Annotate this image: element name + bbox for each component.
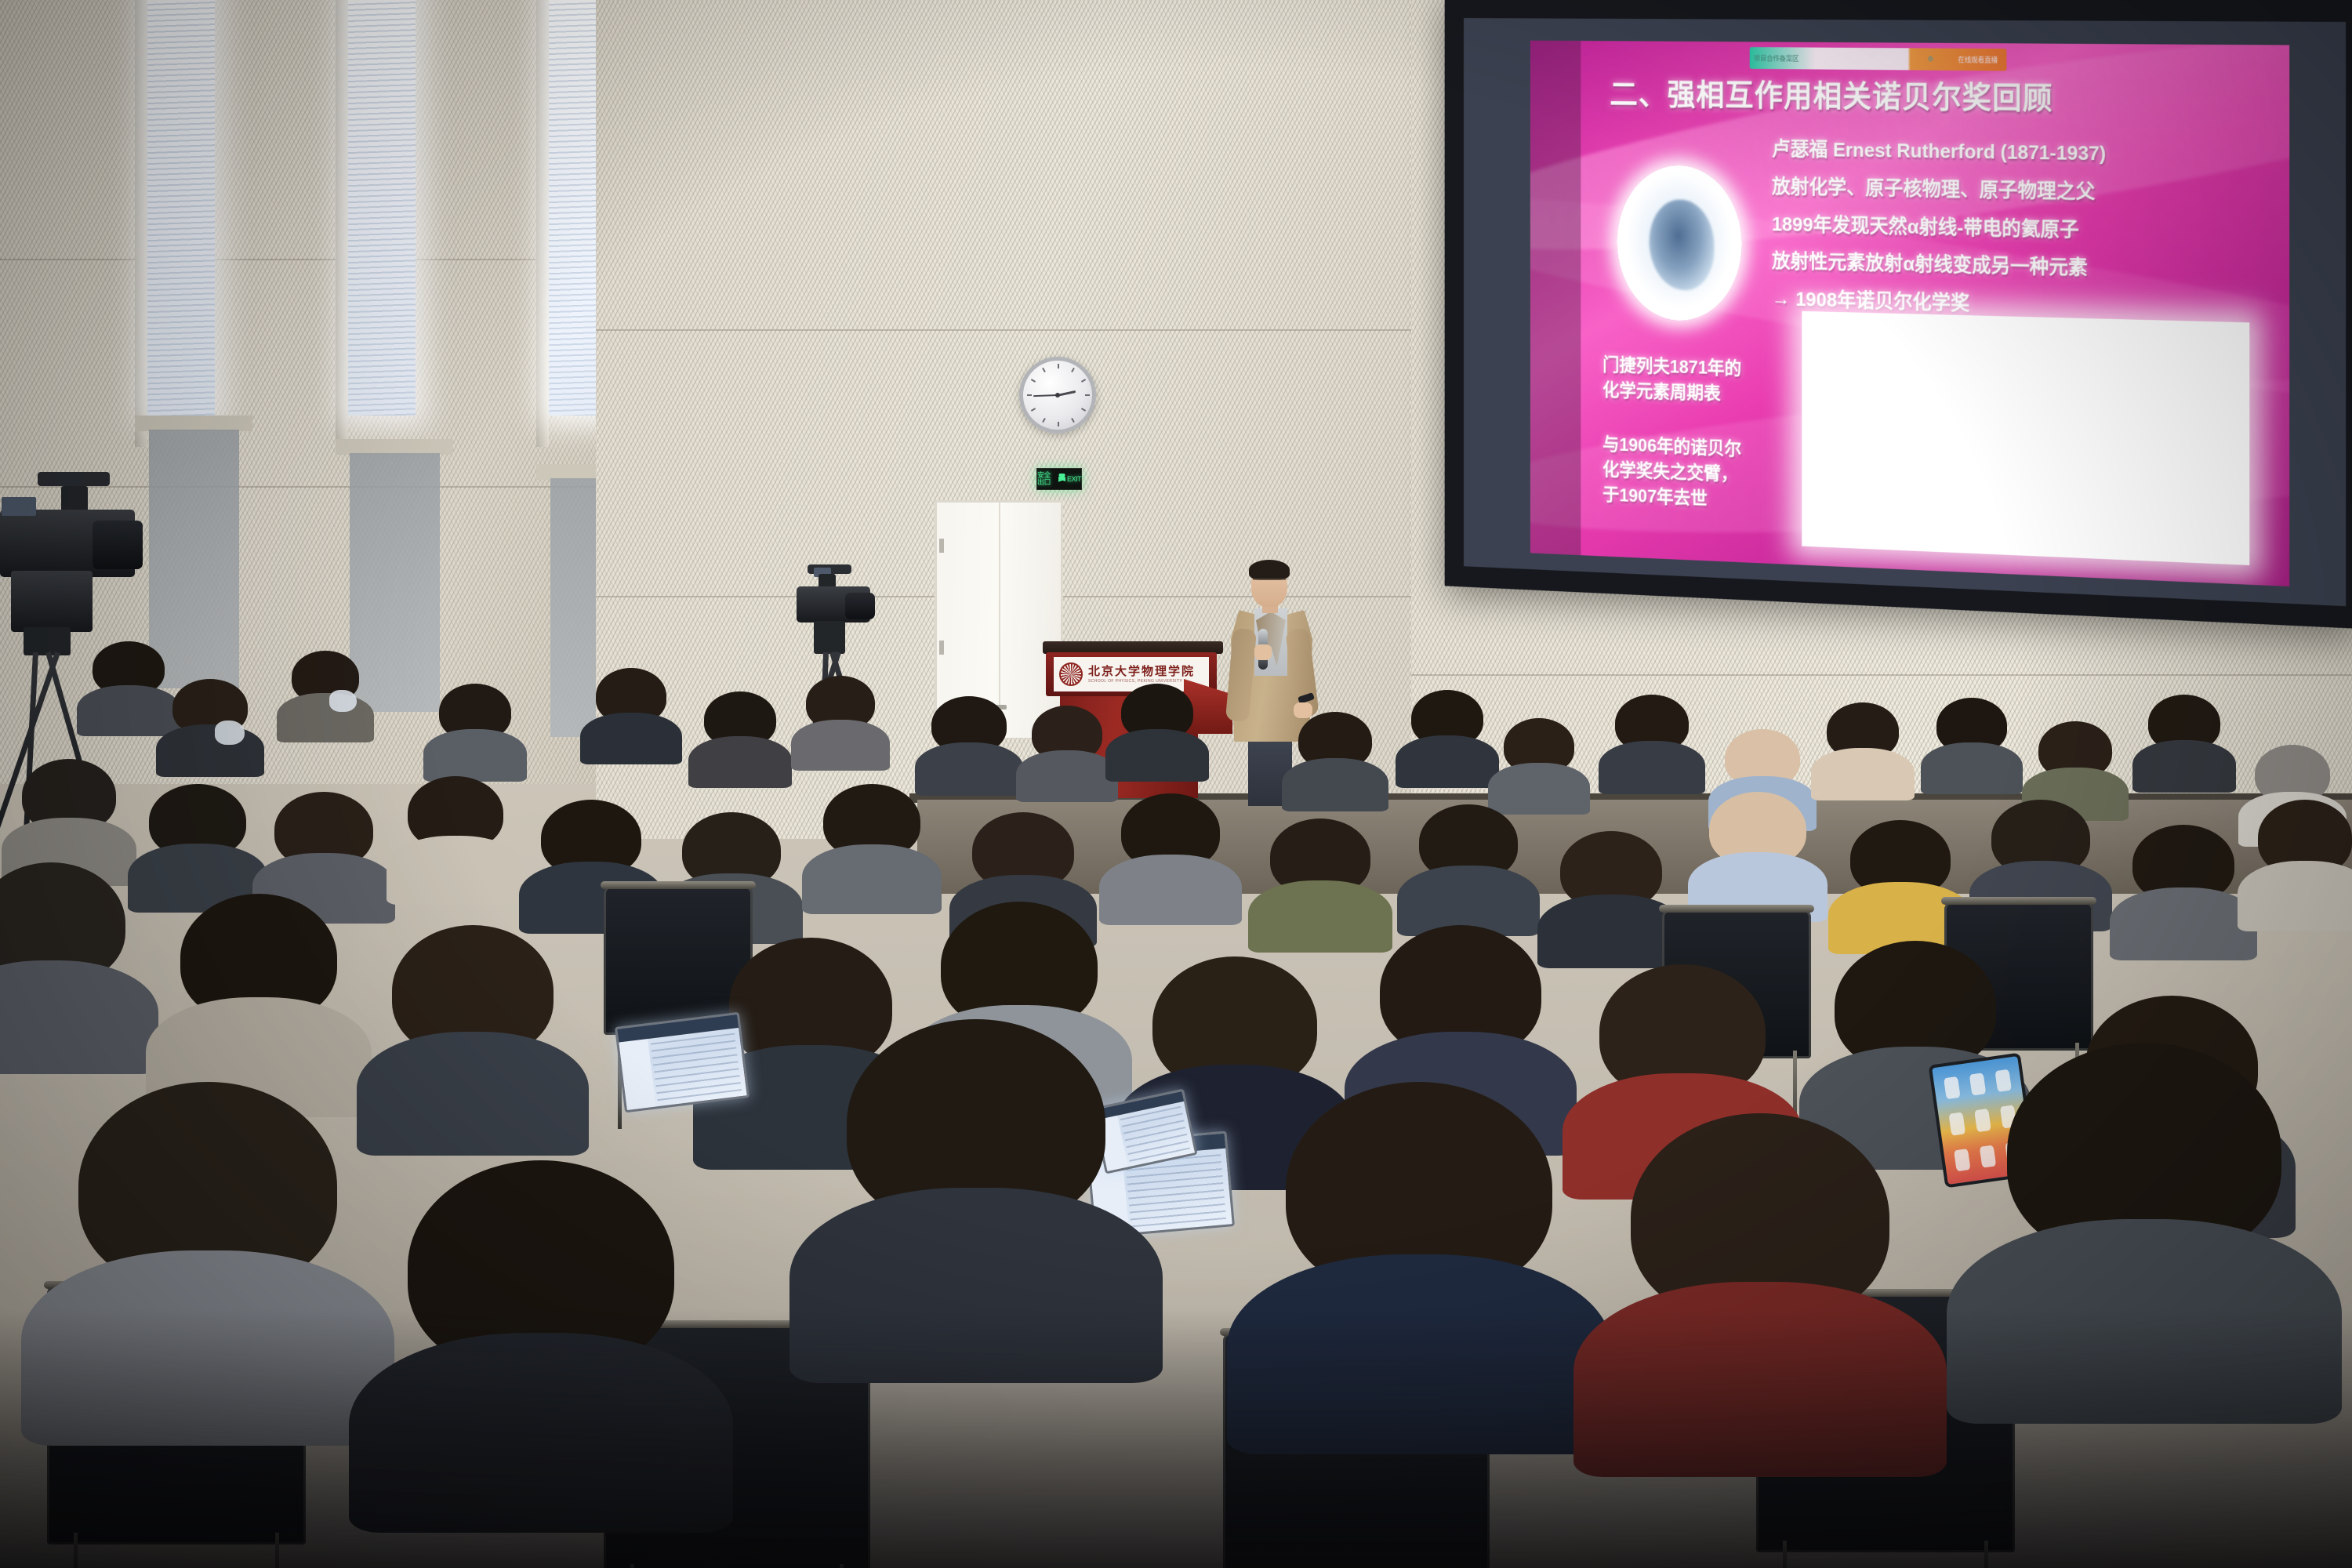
- face-mask: [215, 720, 245, 744]
- attendee: [2007, 1043, 2281, 1396]
- attendee: [172, 679, 248, 770]
- share-icon[interactable]: ⚙: [1915, 55, 1947, 64]
- slide-title: 二、强相互作用相关诺贝尔奖回顾: [1610, 70, 2249, 120]
- attendee: [1270, 818, 1370, 942]
- attendee: [1936, 698, 2007, 787]
- glasses-icon: [1253, 579, 1286, 586]
- attendee: [1631, 1113, 1889, 1450]
- exit-sign-label-cn: 安全出口: [1037, 472, 1057, 486]
- running-person-icon: [1058, 474, 1065, 485]
- attendee: [1286, 1082, 1552, 1427]
- slide-overlay-toolbar[interactable]: 项目合作备案区 ⚙ 在线观看直播: [1749, 47, 2006, 71]
- wall-clock: [1019, 357, 1096, 434]
- attendee: [1560, 831, 1662, 958]
- attendee: [1827, 702, 1899, 793]
- attendee: [1504, 718, 1574, 808]
- slide-note-1: 门捷列夫1871年的 化学元素周期表: [1602, 353, 1809, 410]
- attendee: [1419, 804, 1518, 927]
- attendee: [1411, 690, 1483, 781]
- attendee: [1850, 820, 1951, 944]
- attendee: [596, 668, 666, 757]
- attendee: [1298, 712, 1372, 804]
- attendee: [2148, 695, 2220, 786]
- attendee: [22, 759, 116, 877]
- attendee: [78, 1082, 337, 1419]
- exit-sign-label-en: EXIT: [1067, 476, 1081, 483]
- periodic-table-image: [1802, 311, 2250, 565]
- overlay-left-label: 项目合作备案区: [1749, 53, 1912, 64]
- window-blind-1: [147, 0, 215, 416]
- lecture-hall-photo: 安全出口 EXIT 项目合作备案区 ⚙: [0, 0, 2352, 1568]
- screen-surface: 项目合作备案区 ⚙ 在线观看直播 二、强相互作用相关诺贝尔奖回顾 卢瑟福 Ern…: [1464, 18, 2346, 606]
- attendee: [1615, 695, 1689, 787]
- clock-hour-hand: [1058, 390, 1076, 397]
- attendee: [1121, 684, 1193, 775]
- attendee: [93, 641, 165, 729]
- attendee: [274, 792, 373, 914]
- window-1: [147, 0, 215, 416]
- attendee: [1032, 706, 1102, 795]
- room-background: 安全出口 EXIT 项目合作备案区 ⚙: [0, 0, 2352, 1568]
- attendee: [847, 1019, 1105, 1356]
- slide-note-2: 与1906年的诺贝尔 化学奖失之交臂， 于1907年去世: [1602, 432, 1809, 516]
- laptop-mid-row[interactable]: [615, 1012, 750, 1113]
- attendee: [1709, 792, 1806, 913]
- emergency-exit-sign: 安全出口 EXIT: [1036, 468, 1082, 490]
- projection-screen: 项目合作备案区 ⚙ 在线观看直播 二、强相互作用相关诺贝尔奖回顾 卢瑟福 Ern…: [1445, 0, 2352, 629]
- attendee: [931, 696, 1007, 789]
- presentation-slide: 项目合作备案区 ⚙ 在线观看直播 二、强相互作用相关诺贝尔奖回顾 卢瑟福 Ern…: [1530, 40, 2290, 586]
- attendee: [823, 784, 920, 905]
- attendee: [439, 684, 511, 775]
- attendee: [2132, 825, 2234, 950]
- window-2: [348, 0, 416, 416]
- attendee: [180, 894, 337, 1101]
- attendee: [292, 651, 359, 735]
- overlay-right-label: 在线观看直播: [1949, 54, 2006, 64]
- attendee: [806, 676, 875, 764]
- attendee: [2258, 800, 2352, 922]
- attendee: [704, 691, 776, 781]
- rutherford-portrait: [1617, 165, 1742, 323]
- podium-plaque-en: SCHOOL OF PHYSICS, PEKING UNIVERSITY: [1088, 680, 1195, 684]
- attendee: [392, 925, 554, 1138]
- attendee: [408, 1160, 674, 1505]
- attendee: [149, 784, 246, 903]
- slide-body-text: 卢瑟福 Ernest Rutherford (1871-1937) 放射化学、原…: [1772, 130, 2274, 331]
- window-blind-2: [348, 0, 416, 416]
- face-mask: [329, 690, 356, 712]
- pku-seal-icon: [1059, 662, 1083, 686]
- attendee: [0, 862, 125, 1058]
- attendee: [408, 776, 503, 895]
- attendee: [1121, 793, 1220, 916]
- podium-plaque-cn: 北京大学物理学院: [1088, 666, 1195, 677]
